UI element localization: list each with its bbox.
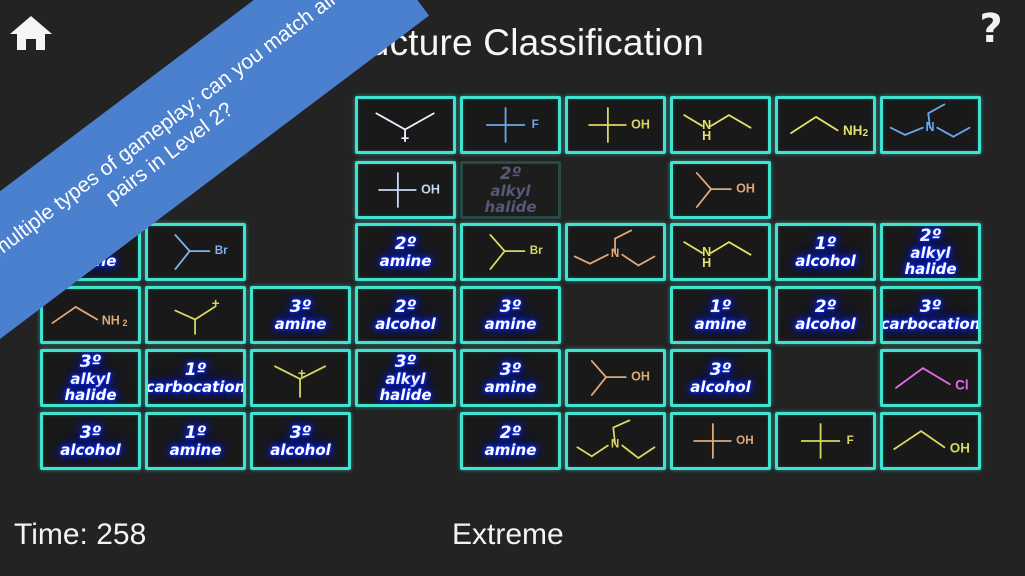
tile-label-text: 2ºamine — [485, 424, 537, 459]
molecule-svg: F — [463, 99, 558, 151]
tile-kind: alkyl halide — [358, 371, 453, 403]
tile-kind: alkyl halide — [463, 183, 558, 215]
tile-kind: alkyl halide — [43, 371, 138, 403]
tile-grid: 1ºcarbocation+FOHNHNH2NOH2ºalkyl halideO… — [40, 96, 990, 486]
svg-text:OH: OH — [736, 434, 753, 447]
tile-label-amine[interactable]: 2ºamine — [355, 223, 456, 281]
svg-text:H: H — [702, 129, 711, 143]
molecule-svg: OH — [673, 164, 768, 216]
tile-label-alcohol[interactable]: 3ºalcohol — [670, 349, 771, 407]
tile-degree: 3º — [43, 353, 138, 371]
tile-kind: carbocation — [146, 126, 246, 142]
tile-label-alcohol[interactable]: 3ºalcohol — [40, 412, 141, 470]
molecule-svg: Br — [148, 226, 243, 278]
tile-label-text: 2ºalcohol — [375, 298, 436, 333]
tile-label-text: 3ºamine — [485, 298, 537, 333]
tile-kind: amine — [380, 253, 432, 269]
tile-molecule-propanol-OH[interactable]: OH — [880, 412, 981, 470]
molecule-svg: + — [358, 99, 453, 151]
tile-label-text: 3ºcarbocation — [881, 298, 981, 333]
tile-label-text: 1ºamine — [170, 424, 222, 459]
tile-label-amine[interactable]: 1ºamine — [145, 412, 246, 470]
tile-degree: 1º — [695, 298, 747, 316]
svg-text:F: F — [532, 118, 539, 131]
tile-degree: 3º — [275, 298, 327, 316]
tile-molecule-secondary-amine-NH[interactable]: NH — [670, 223, 771, 281]
tile-degree: 3º — [881, 298, 981, 316]
molecule-svg: N — [568, 226, 663, 278]
tile-kind: alcohol — [375, 316, 436, 332]
tile-kind: alkyl halide — [883, 245, 978, 277]
tile-label-carbocation[interactable]: 1ºcarbocation — [145, 96, 246, 154]
tile-label-amine[interactable]: 3ºamine — [460, 286, 561, 344]
tile-molecule-propyl-chloride[interactable]: Cl — [880, 349, 981, 407]
tile-label-alkyl-halide[interactable]: 3ºalkyl halide — [355, 349, 456, 407]
tile-label-text: 2ºalkyl halide — [463, 165, 558, 216]
page-title: Structure Classification — [0, 22, 1025, 64]
svg-text:N: N — [611, 438, 619, 451]
molecule-svg: NH — [673, 226, 768, 278]
tile-molecule-tert-alkyl-fluoride[interactable]: F — [460, 96, 561, 154]
tile-label-text: 2ºalcohol — [795, 298, 856, 333]
molecule-svg: OH — [883, 415, 978, 467]
molecule-svg: + — [253, 352, 348, 404]
svg-text:Br: Br — [530, 244, 543, 257]
svg-text:H: H — [702, 256, 711, 270]
tile-label-alkyl-halide[interactable]: 2ºalkyl halide — [460, 161, 561, 219]
tile-label-amine[interactable]: 2ºamine — [40, 223, 141, 281]
tile-degree: 3º — [358, 353, 453, 371]
tile-degree: 1º — [795, 235, 856, 253]
tile-label-carbocation[interactable]: 3ºcarbocation — [880, 286, 981, 344]
tile-label-alcohol[interactable]: 3ºalcohol — [250, 412, 351, 470]
time-display: Time: 258 — [14, 518, 146, 552]
tile-molecule-primary-amine-NH2[interactable]: NH2 — [775, 96, 876, 154]
tile-molecule-isopropyl-cation[interactable]: + — [145, 286, 246, 344]
tile-molecule-triethylamine-orange[interactable]: N — [565, 223, 666, 281]
tile-degree: 2º — [463, 165, 558, 183]
tile-molecule-secondary-amine-NH[interactable]: NH — [670, 96, 771, 154]
tile-molecule-isopropyl-bromide[interactable]: Br — [145, 223, 246, 281]
molecule-svg: Br — [463, 226, 558, 278]
tile-label-text: 1ºamine — [695, 298, 747, 333]
tile-molecule-isopropyl-alcohol[interactable]: OH — [670, 161, 771, 219]
tile-degree: 1º — [170, 424, 222, 442]
tile-label-text: 2ºamine — [65, 235, 117, 270]
tile-kind: amine — [485, 316, 537, 332]
tile-label-text: 3ºalcohol — [690, 361, 751, 396]
tile-molecule-isopropyl-alcohol[interactable]: OH — [565, 349, 666, 407]
svg-text:NH: NH — [102, 314, 120, 328]
tile-label-alcohol[interactable]: 2ºalcohol — [355, 286, 456, 344]
tile-label-text: 3ºalkyl halide — [43, 353, 138, 404]
tile-label-amine[interactable]: 3ºamine — [460, 349, 561, 407]
tile-molecule-triethylamine-yellow[interactable]: N — [565, 412, 666, 470]
game-screen: Structure Classification ? 1ºcarbocation… — [0, 0, 1025, 576]
tile-degree: 3º — [270, 424, 331, 442]
svg-text:OH: OH — [736, 181, 755, 195]
difficulty-display: Extreme — [452, 518, 564, 552]
tile-degree: 2º — [883, 227, 978, 245]
tile-molecule-triethylamine[interactable]: N — [880, 96, 981, 154]
tile-degree: 3º — [60, 424, 121, 442]
question-mark-icon[interactable]: ? — [971, 6, 1011, 54]
molecule-svg: + — [148, 289, 243, 341]
tile-kind: amine — [485, 379, 537, 395]
svg-text:2: 2 — [863, 128, 869, 139]
tile-degree: 1º — [146, 361, 246, 379]
tile-label-carbocation[interactable]: 1ºcarbocation — [145, 349, 246, 407]
svg-text:+: + — [212, 296, 220, 311]
tile-label-text: 1ºalcohol — [795, 235, 856, 270]
tile-kind: carbocation — [146, 379, 246, 395]
tile-label-text: 3ºamine — [485, 361, 537, 396]
svg-text:F: F — [847, 434, 854, 447]
tile-label-amine[interactable]: 2ºamine — [460, 412, 561, 470]
tile-label-alkyl-halide[interactable]: 2ºalkyl halide — [880, 223, 981, 281]
tile-label-alcohol[interactable]: 2ºalcohol — [775, 286, 876, 344]
tile-kind: amine — [65, 253, 117, 269]
tile-kind: alcohol — [270, 442, 331, 458]
tile-kind: alcohol — [795, 316, 856, 332]
tile-label-text: 2ºamine — [380, 235, 432, 270]
tile-label-text: 2ºalkyl halide — [883, 227, 978, 278]
svg-text:2: 2 — [123, 318, 128, 328]
svg-text:NH: NH — [843, 123, 862, 138]
tile-molecule-tert-alcohol[interactable]: OH — [565, 96, 666, 154]
molecule-svg: NH2 — [778, 99, 873, 151]
tile-kind: amine — [170, 442, 222, 458]
tile-molecule-tert-alcohol-OH[interactable]: OH — [355, 161, 456, 219]
tile-kind: alcohol — [60, 442, 121, 458]
tile-label-text: 3ºamine — [275, 298, 327, 333]
svg-text:N: N — [926, 120, 935, 134]
tile-degree: 2º — [65, 235, 117, 253]
tile-degree: 3º — [485, 361, 537, 379]
svg-text:+: + — [401, 131, 409, 147]
tile-degree: 2º — [380, 235, 432, 253]
svg-text:N: N — [611, 247, 619, 260]
molecule-svg: OH — [673, 415, 768, 467]
molecule-svg: OH — [568, 352, 663, 404]
tile-degree: 2º — [485, 424, 537, 442]
svg-text:OH: OH — [631, 369, 650, 383]
svg-text:OH: OH — [950, 441, 970, 456]
help-glyph: ? — [979, 6, 1002, 52]
tile-molecule-isopropyl-bromide-yellow[interactable]: Br — [460, 223, 561, 281]
molecule-svg: N — [883, 99, 978, 151]
tile-degree: 2º — [375, 298, 436, 316]
tile-degree: 3º — [690, 361, 751, 379]
tile-label-text: 1ºcarbocation — [146, 108, 246, 143]
tile-kind: amine — [275, 316, 327, 332]
tile-kind: alcohol — [690, 379, 751, 395]
tile-degree: 2º — [795, 298, 856, 316]
svg-text:Cl: Cl — [955, 378, 968, 393]
tile-kind: alcohol — [795, 253, 856, 269]
molecule-svg: NH — [673, 99, 768, 151]
top-bar: Structure Classification ? — [0, 0, 1025, 88]
molecule-svg: N — [568, 415, 663, 467]
tile-kind: carbocation — [881, 316, 981, 332]
molecule-svg: OH — [568, 99, 663, 151]
tile-kind: amine — [695, 316, 747, 332]
tile-label-text: 3ºalcohol — [270, 424, 331, 459]
tile-degree: 3º — [485, 298, 537, 316]
svg-text:+: + — [298, 366, 306, 381]
tile-molecule-primary-amine-NH2-orange[interactable]: NH2 — [40, 286, 141, 344]
tile-label-text: 3ºalcohol — [60, 424, 121, 459]
tile-label-alkyl-halide[interactable]: 3ºalkyl halide — [40, 349, 141, 407]
svg-text:Br: Br — [215, 244, 228, 257]
bottom-bar: Time: 258 Extreme — [0, 502, 1025, 576]
tile-label-amine[interactable]: 1ºamine — [670, 286, 771, 344]
tile-label-text: 3ºalkyl halide — [358, 353, 453, 404]
tile-label-alcohol[interactable]: 1ºalcohol — [775, 223, 876, 281]
tile-kind: amine — [485, 442, 537, 458]
tile-molecule-tert-alcohol-OH-orange[interactable]: OH — [670, 412, 771, 470]
molecule-svg: OH — [358, 164, 453, 216]
tile-label-amine[interactable]: 3ºamine — [250, 286, 351, 344]
tile-degree: 1º — [146, 108, 246, 126]
tile-label-text: 1ºcarbocation — [146, 361, 246, 396]
svg-text:OH: OH — [421, 182, 440, 196]
molecule-svg: NH2 — [43, 289, 138, 341]
tile-molecule-tert-alkyl-fluoride-yellow[interactable]: F — [775, 412, 876, 470]
svg-text:OH: OH — [631, 117, 650, 131]
molecule-svg: Cl — [883, 352, 978, 404]
tile-molecule-tert-butyl-cation[interactable]: + — [355, 96, 456, 154]
molecule-svg: F — [778, 415, 873, 467]
tile-molecule-tert-butyl-cation-yellow[interactable]: + — [250, 349, 351, 407]
